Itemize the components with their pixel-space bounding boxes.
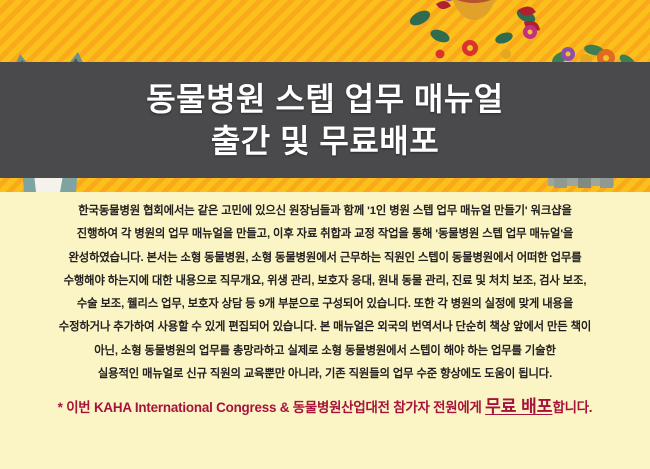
body-content: 한국동물병원 협회에서는 같은 고민에 있으신 원장님들과 함께 '1인 병원 … (0, 192, 650, 469)
paragraph-line: 한국동물병원 협회에서는 같은 고민에 있으신 원장님들과 함께 '1인 병원 … (35, 200, 615, 223)
promotional-poster: 동물병원 스텝 업무 매뉴얼 출간 및 무료배포 한국동물병원 협회에서는 같은… (0, 0, 650, 469)
announcement-emphasis: 무료 배포 (485, 397, 552, 416)
paragraph-line: 실용적인 매뉴얼로 신규 직원의 교육뿐만 아니라, 기존 직원들의 업무 수준… (35, 363, 615, 386)
paragraph-line: 진행하여 각 병원의 업무 매뉴얼을 만들고, 이후 자료 취합과 교정 작업을… (35, 223, 615, 246)
paragraph-line: 수술 보조, 웰리스 업무, 보호자 상담 등 9개 부분으로 구성되어 있습니… (35, 293, 615, 316)
paragraph-line: 완성하였습니다. 본서는 소형 동물병원, 소형 동물병원에서 근무하는 직원인… (35, 247, 615, 270)
paragraph-line: 수정하거나 추가하여 사용할 수 있게 편집되어 있습니다. 본 매뉴얼은 외국… (35, 316, 615, 339)
title-line-2: 출간 및 무료배포 (211, 121, 439, 161)
title-banner: 동물병원 스텝 업무 매뉴얼 출간 및 무료배포 (0, 62, 650, 178)
title-line-1: 동물병원 스텝 업무 매뉴얼 (146, 79, 504, 119)
announcement-suffix: 합니다. (552, 400, 592, 415)
paragraph-line: 아닌, 소형 동물병원의 업무를 총망라하고 실제로 소형 동물병원에서 스텝이… (35, 340, 615, 363)
free-distribution-announcement: * 이번 KAHA International Congress & 동물병원산… (15, 392, 635, 417)
announcement-prefix: * 이번 KAHA International Congress & 동물병원산… (58, 400, 486, 415)
description-paragraph: 한국동물병원 협회에서는 같은 고민에 있으신 원장님들과 함께 '1인 병원 … (35, 200, 615, 386)
paragraph-line: 수행해야 하는지에 대한 내용으로 직무개요, 위생 관리, 보호자 응대, 원… (35, 270, 615, 293)
